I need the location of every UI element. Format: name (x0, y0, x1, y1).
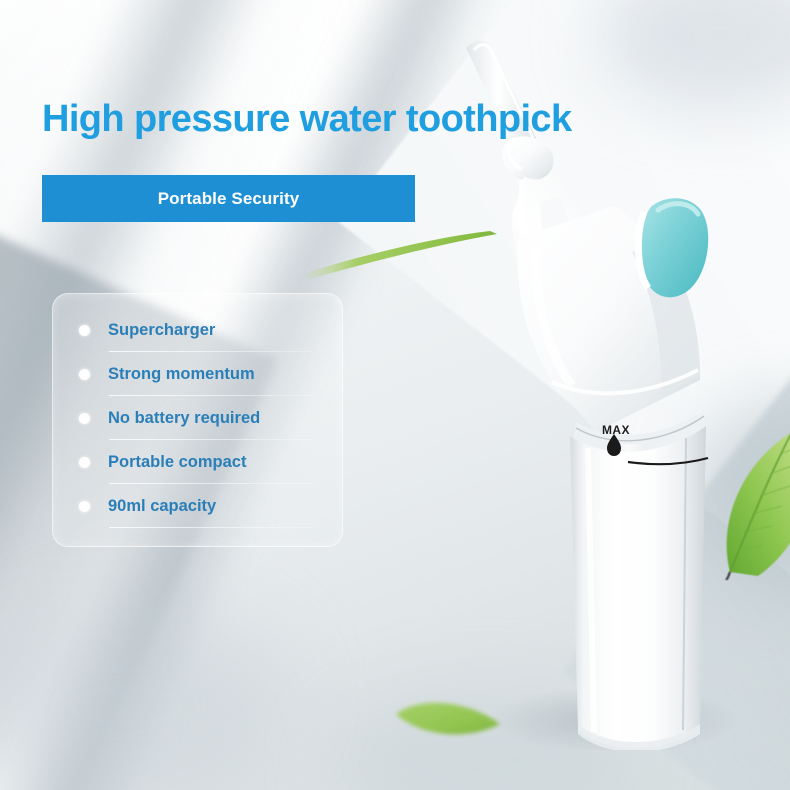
feature-label: Supercharger (108, 321, 215, 340)
feature-item-90ml-capacity: 90ml capacity (79, 484, 320, 528)
max-label: MAX (602, 423, 630, 437)
feature-item-supercharger: Supercharger (79, 308, 320, 352)
background-cloud-3 (0, 600, 290, 790)
bullet-dot-icon (79, 369, 90, 380)
bullet-dot-icon (79, 501, 90, 512)
feature-divider (109, 527, 312, 528)
feature-list-card: Supercharger Strong momentum No battery … (52, 293, 343, 547)
bullet-dot-icon (79, 457, 90, 468)
advertisement-banner: MAX High pressure water toothpick Portab… (0, 0, 790, 790)
tagline-text: Portable Security (158, 189, 300, 209)
bullet-dot-icon (79, 325, 90, 336)
tagline-banner: Portable Security (42, 175, 415, 222)
feature-item-no-battery-required: No battery required (79, 396, 320, 440)
feature-item-portable-compact: Portable compact (79, 440, 320, 484)
feature-label: 90ml capacity (108, 497, 216, 516)
bullet-dot-icon (79, 413, 90, 424)
feature-item-strong-momentum: Strong momentum (79, 352, 320, 396)
feature-label: No battery required (108, 409, 260, 428)
feature-label: Strong momentum (108, 365, 255, 384)
feature-label: Portable compact (108, 453, 246, 472)
page-title: High pressure water toothpick (42, 98, 571, 141)
